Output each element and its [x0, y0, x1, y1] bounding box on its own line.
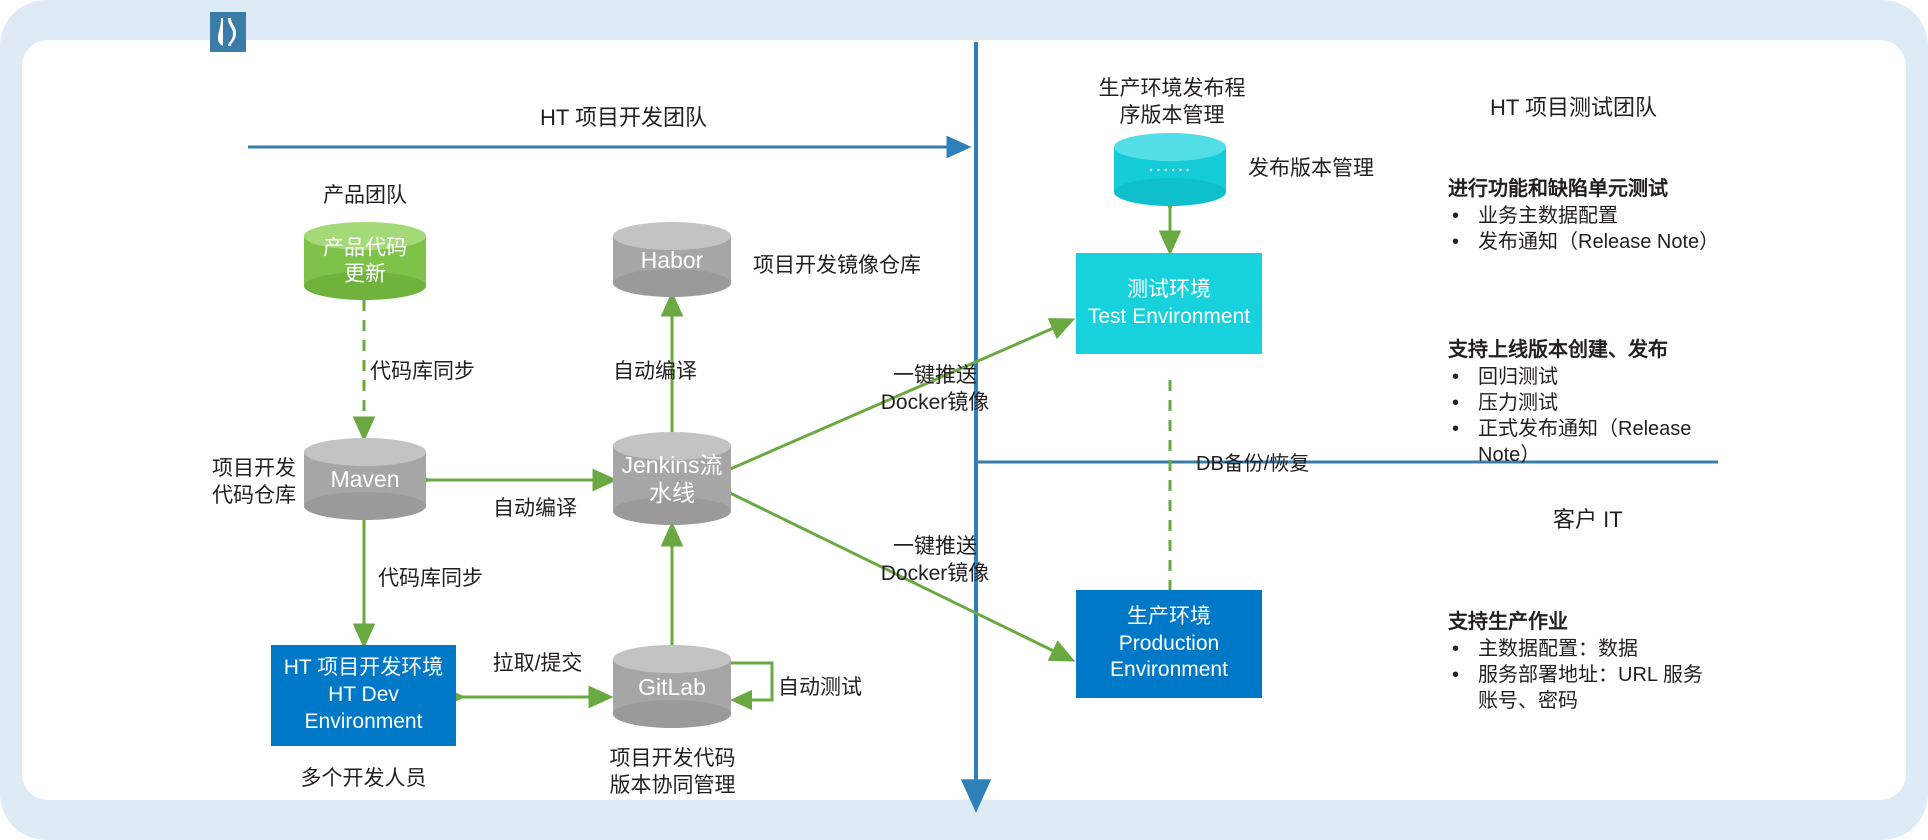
customer-it-title: 客户 IT — [1553, 502, 1623, 534]
panel-title: 支持生产作业 — [1448, 605, 1878, 634]
dev-team-title: HT 项目开发团队 — [540, 100, 707, 132]
production-environment-box[interactable]: 生产环境 Production Environment — [1076, 590, 1262, 698]
panel-list: 回归测试 压力测试 正式发布通知（Release Note） — [1448, 364, 1878, 468]
cylinder-top — [613, 645, 731, 673]
maven-cylinder[interactable]: Maven — [304, 438, 426, 520]
release-version-cylinder-label: ······ — [1114, 158, 1226, 181]
product-team-label: 产品团队 — [295, 182, 435, 209]
habor-cylinder[interactable]: Habor — [613, 222, 731, 297]
cylinder-bottom — [1114, 178, 1226, 206]
panel-list-item: 正式发布通知（Release Note） — [1452, 416, 1878, 468]
product-code-cylinder[interactable]: 产品代码 更新 — [304, 222, 426, 300]
maven-cylinder-label: Maven — [304, 465, 426, 493]
habor-cylinder-label: Habor — [613, 245, 731, 273]
panel-list: 业务主数据配置 发布通知（Release Note） — [1448, 203, 1878, 255]
pull-commit-label: 拉取/提交 — [470, 650, 605, 677]
diagram-canvas: HT 项目开发团队 HT 项目测试团队 客户 IT DB备份/恢复 产品团队 产… — [0, 0, 1928, 840]
gitlab-cylinder-label: GitLab — [613, 672, 731, 700]
panel-list-item: 回归测试 — [1452, 364, 1878, 390]
test-team-title: HT 项目测试团队 — [1490, 90, 1657, 122]
cylinder-bottom — [304, 492, 426, 520]
panel-list-item: 发布通知（Release Note） — [1452, 229, 1878, 255]
company-logo-icon — [210, 12, 246, 52]
auto-compile-vertical-label: 自动编译 — [595, 358, 715, 385]
jenkins-cylinder-label: Jenkins流 水线 — [613, 450, 731, 506]
release-version-cylinder[interactable]: ······ — [1114, 133, 1226, 206]
panel-list-item: 业务主数据配置 — [1452, 203, 1878, 229]
panel-list: 主数据配置：数据 服务部署地址：URL 服务 账号、密码 — [1448, 636, 1878, 714]
gitlab-cylinder[interactable]: GitLab — [613, 645, 731, 728]
gitlab-caption: 项目开发代码 版本协同管理 — [600, 745, 745, 800]
push-docker-bottom-label: 一键推送 Docker镜像 — [835, 533, 1035, 588]
jenkins-cylinder[interactable]: Jenkins流 水线 — [613, 432, 731, 525]
panel-title: 支持上线版本创建、发布 — [1448, 333, 1878, 362]
ht-dev-environment-box[interactable]: HT 项目开发环境 HT Dev Environment — [271, 645, 456, 746]
code-sync-top-label: 代码库同步 — [370, 358, 540, 385]
panel-release-version-create-publish: 支持上线版本创建、发布 回归测试 压力测试 正式发布通知（Release Not… — [1448, 333, 1878, 468]
push-docker-top-label: 一键推送 Docker镜像 — [835, 362, 1035, 417]
ht-dev-environment-label: HT 项目开发环境 HT Dev Environment — [284, 655, 443, 736]
test-environment-label: 测试环境 Test Environment — [1088, 277, 1250, 331]
panel-list-item: 压力测试 — [1452, 390, 1878, 416]
panel-title: 进行功能和缺陷单元测试 — [1448, 172, 1878, 201]
cylinder-top — [304, 438, 426, 466]
auto-test-label: 自动测试 — [778, 674, 898, 701]
release-version-side-label: 发布版本管理 — [1248, 155, 1428, 182]
auto-compile-horizontal-label: 自动编译 — [475, 495, 595, 522]
maven-caption: 项目开发 代码仓库 — [212, 455, 304, 510]
panel-list-item: 服务部署地址：URL 服务 账号、密码 — [1452, 662, 1878, 714]
cylinder-bottom — [613, 700, 731, 728]
dev-env-caption: 多个开发人员 — [271, 765, 456, 792]
panel-support-production-operations: 支持生产作业 主数据配置：数据 服务部署地址：URL 服务 账号、密码 — [1448, 605, 1878, 714]
test-environment-box[interactable]: 测试环境 Test Environment — [1076, 253, 1262, 354]
product-code-cylinder-label: 产品代码 更新 — [304, 235, 426, 286]
db-backup-label: DB备份/恢复 — [1196, 447, 1309, 476]
code-sync-bottom-label: 代码库同步 — [378, 565, 548, 592]
release-cylinder-caption: 生产环境发布程 序版本管理 — [1082, 75, 1262, 130]
habor-caption: 项目开发镜像仓库 — [753, 252, 983, 279]
production-environment-label: 生产环境 Production Environment — [1110, 604, 1228, 685]
panel-functional-defect-unit-test: 进行功能和缺陷单元测试 业务主数据配置 发布通知（Release Note） — [1448, 172, 1878, 255]
cylinder-top — [1114, 133, 1226, 161]
panel-list-item: 主数据配置：数据 — [1452, 636, 1878, 662]
